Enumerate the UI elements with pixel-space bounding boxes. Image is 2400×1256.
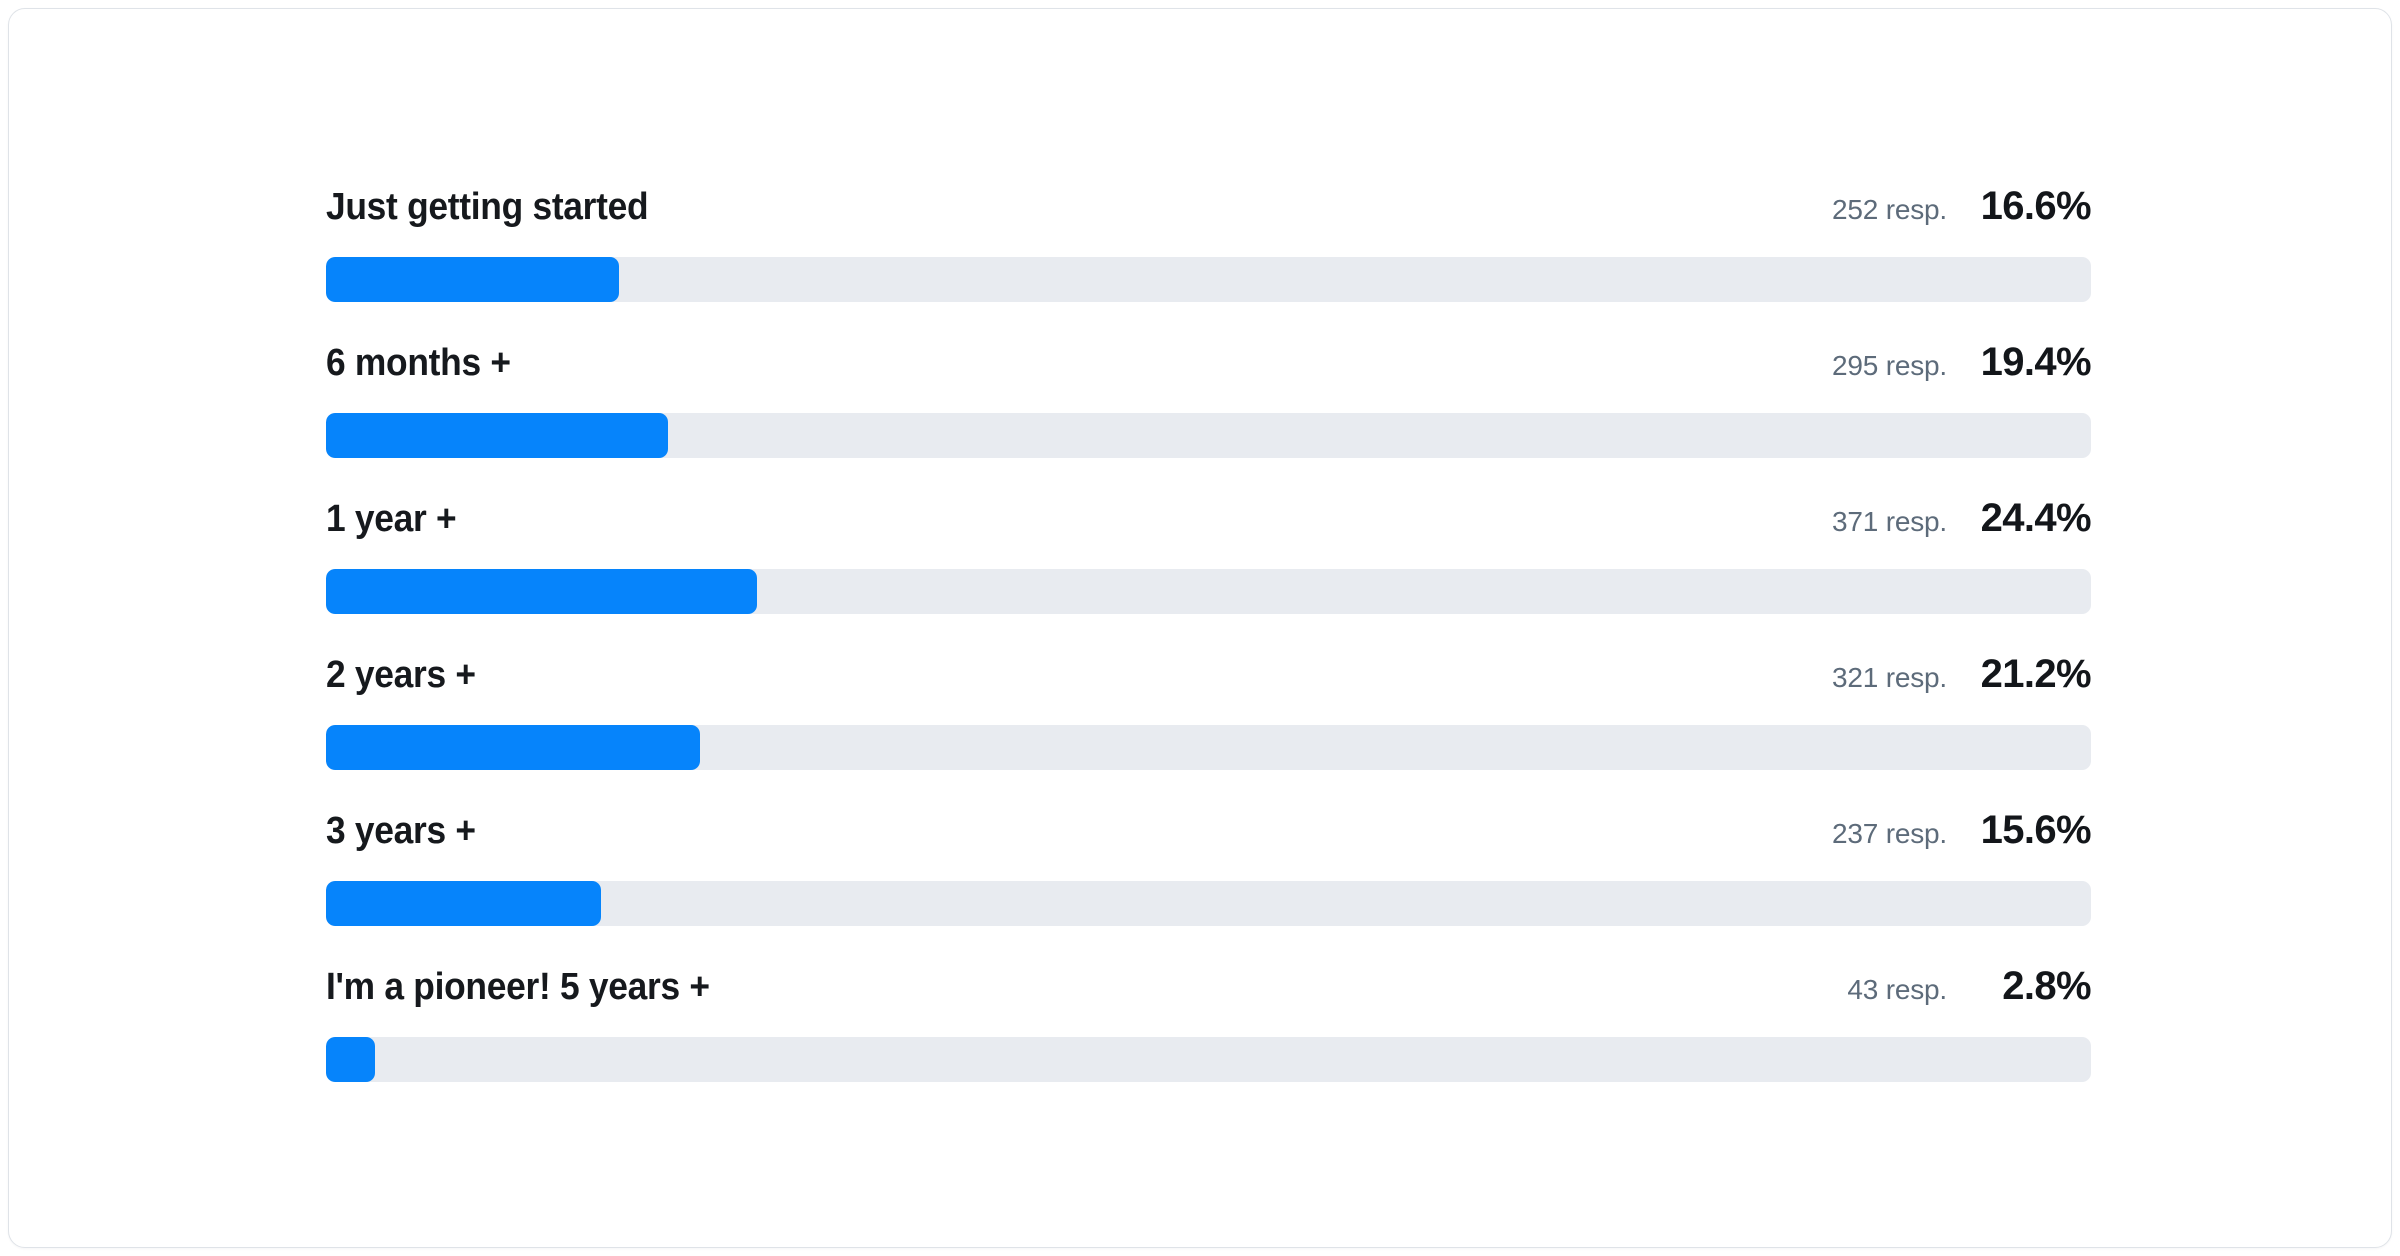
poll-bar-track xyxy=(326,413,2091,458)
poll-bar-fill xyxy=(326,257,619,302)
poll-option-label: 2 years + xyxy=(326,656,476,694)
poll-percentage: 21.2% xyxy=(1973,654,2091,694)
poll-row-header: 2 years +321 resp.21.2% xyxy=(326,649,2091,694)
poll-bar-fill xyxy=(326,881,601,926)
poll-response-count: 321 resp. xyxy=(1832,664,1947,692)
poll-bar-track xyxy=(326,725,2091,770)
poll-row-header: 6 months +295 resp.19.4% xyxy=(326,337,2091,382)
poll-bar-fill xyxy=(326,725,700,770)
poll-row-stats: 252 resp.16.6% xyxy=(1832,186,2091,226)
poll-results-card: Just getting started252 resp.16.6%6 mont… xyxy=(8,8,2392,1248)
poll-option-label: 1 year + xyxy=(326,500,456,538)
poll-option-label: I'm a pioneer! 5 years + xyxy=(326,968,710,1006)
poll-bar-track xyxy=(326,881,2091,926)
poll-percentage: 15.6% xyxy=(1973,810,2091,850)
poll-result-row: 3 years +237 resp.15.6% xyxy=(326,805,2091,961)
poll-result-row: Just getting started252 resp.16.6% xyxy=(326,181,2091,337)
poll-option-label: 3 years + xyxy=(326,812,476,850)
poll-percentage: 19.4% xyxy=(1973,342,2091,382)
poll-result-row: 2 years +321 resp.21.2% xyxy=(326,649,2091,805)
poll-response-count: 237 resp. xyxy=(1832,820,1947,848)
poll-result-row: I'm a pioneer! 5 years +43 resp.2.8% xyxy=(326,961,2091,1117)
poll-response-count: 252 resp. xyxy=(1832,196,1947,224)
poll-bar-track xyxy=(326,1037,2091,1082)
poll-response-count: 371 resp. xyxy=(1832,508,1947,536)
poll-results-list: Just getting started252 resp.16.6%6 mont… xyxy=(326,181,2091,1117)
poll-bar-track xyxy=(326,569,2091,614)
poll-option-label: Just getting started xyxy=(326,188,648,226)
poll-bar-fill xyxy=(326,413,668,458)
poll-percentage: 16.6% xyxy=(1973,186,2091,226)
poll-row-header: 1 year +371 resp.24.4% xyxy=(326,493,2091,538)
poll-row-stats: 237 resp.15.6% xyxy=(1832,810,2091,850)
poll-row-stats: 321 resp.21.2% xyxy=(1832,654,2091,694)
poll-result-row: 6 months +295 resp.19.4% xyxy=(326,337,2091,493)
poll-bar-fill xyxy=(326,569,757,614)
poll-row-stats: 371 resp.24.4% xyxy=(1832,498,2091,538)
poll-percentage: 24.4% xyxy=(1973,498,2091,538)
poll-row-header: I'm a pioneer! 5 years +43 resp.2.8% xyxy=(326,961,2091,1006)
poll-bar-fill xyxy=(326,1037,375,1082)
poll-row-header: Just getting started252 resp.16.6% xyxy=(326,181,2091,226)
poll-row-stats: 295 resp.19.4% xyxy=(1832,342,2091,382)
poll-response-count: 43 resp. xyxy=(1847,976,1947,1004)
poll-row-header: 3 years +237 resp.15.6% xyxy=(326,805,2091,850)
poll-response-count: 295 resp. xyxy=(1832,352,1947,380)
poll-result-row: 1 year +371 resp.24.4% xyxy=(326,493,2091,649)
poll-percentage: 2.8% xyxy=(1973,966,2091,1006)
poll-option-label: 6 months + xyxy=(326,344,511,382)
poll-row-stats: 43 resp.2.8% xyxy=(1847,966,2091,1006)
poll-bar-track xyxy=(326,257,2091,302)
